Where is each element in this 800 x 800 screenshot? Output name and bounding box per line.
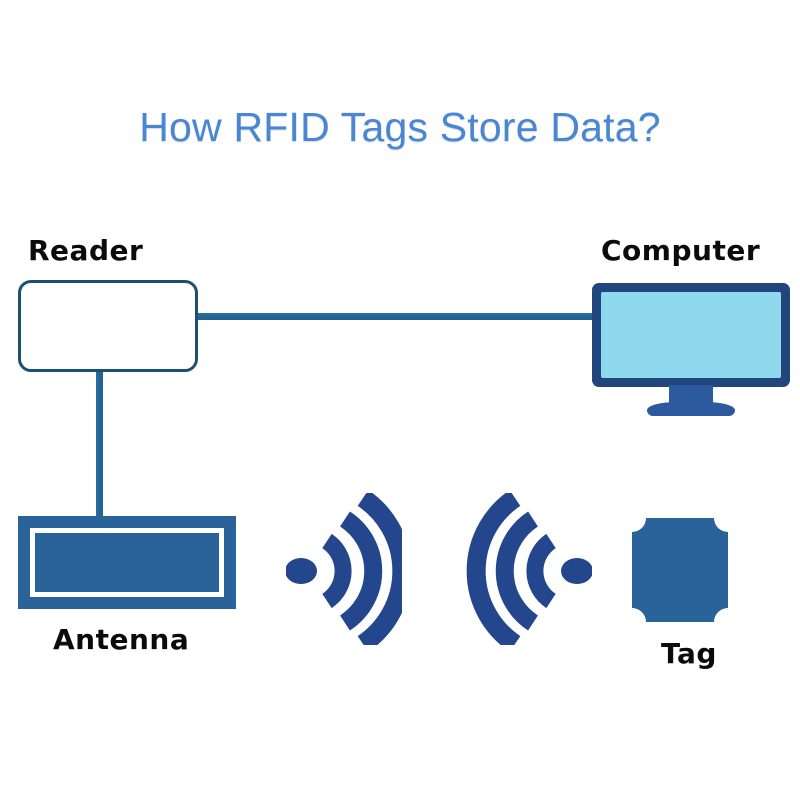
reader-box[interactable] — [18, 280, 198, 372]
computer-monitor[interactable] — [592, 283, 790, 387]
connector-reader-to-computer — [188, 313, 614, 320]
computer-label: Computer — [601, 234, 760, 267]
tag-label: Tag — [661, 637, 717, 670]
connector-reader-to-antenna — [96, 366, 103, 522]
monitor-screen — [601, 292, 781, 378]
tag-shape[interactable] — [632, 518, 728, 622]
rfid-wave-right-facing-icon — [286, 493, 402, 645]
antenna-inner-outline — [30, 528, 224, 597]
diagram-canvas: How RFID Tags Store Data? Reader Compute… — [0, 0, 800, 800]
page-title: How RFID Tags Store Data? — [0, 104, 800, 151]
rfid-wave-left-facing-icon — [455, 493, 592, 645]
antenna-label: Antenna — [53, 623, 189, 656]
monitor-stand-base — [647, 402, 735, 416]
monitor-bezel — [592, 283, 790, 387]
antenna-shape[interactable] — [18, 516, 236, 609]
reader-label: Reader — [28, 234, 143, 267]
